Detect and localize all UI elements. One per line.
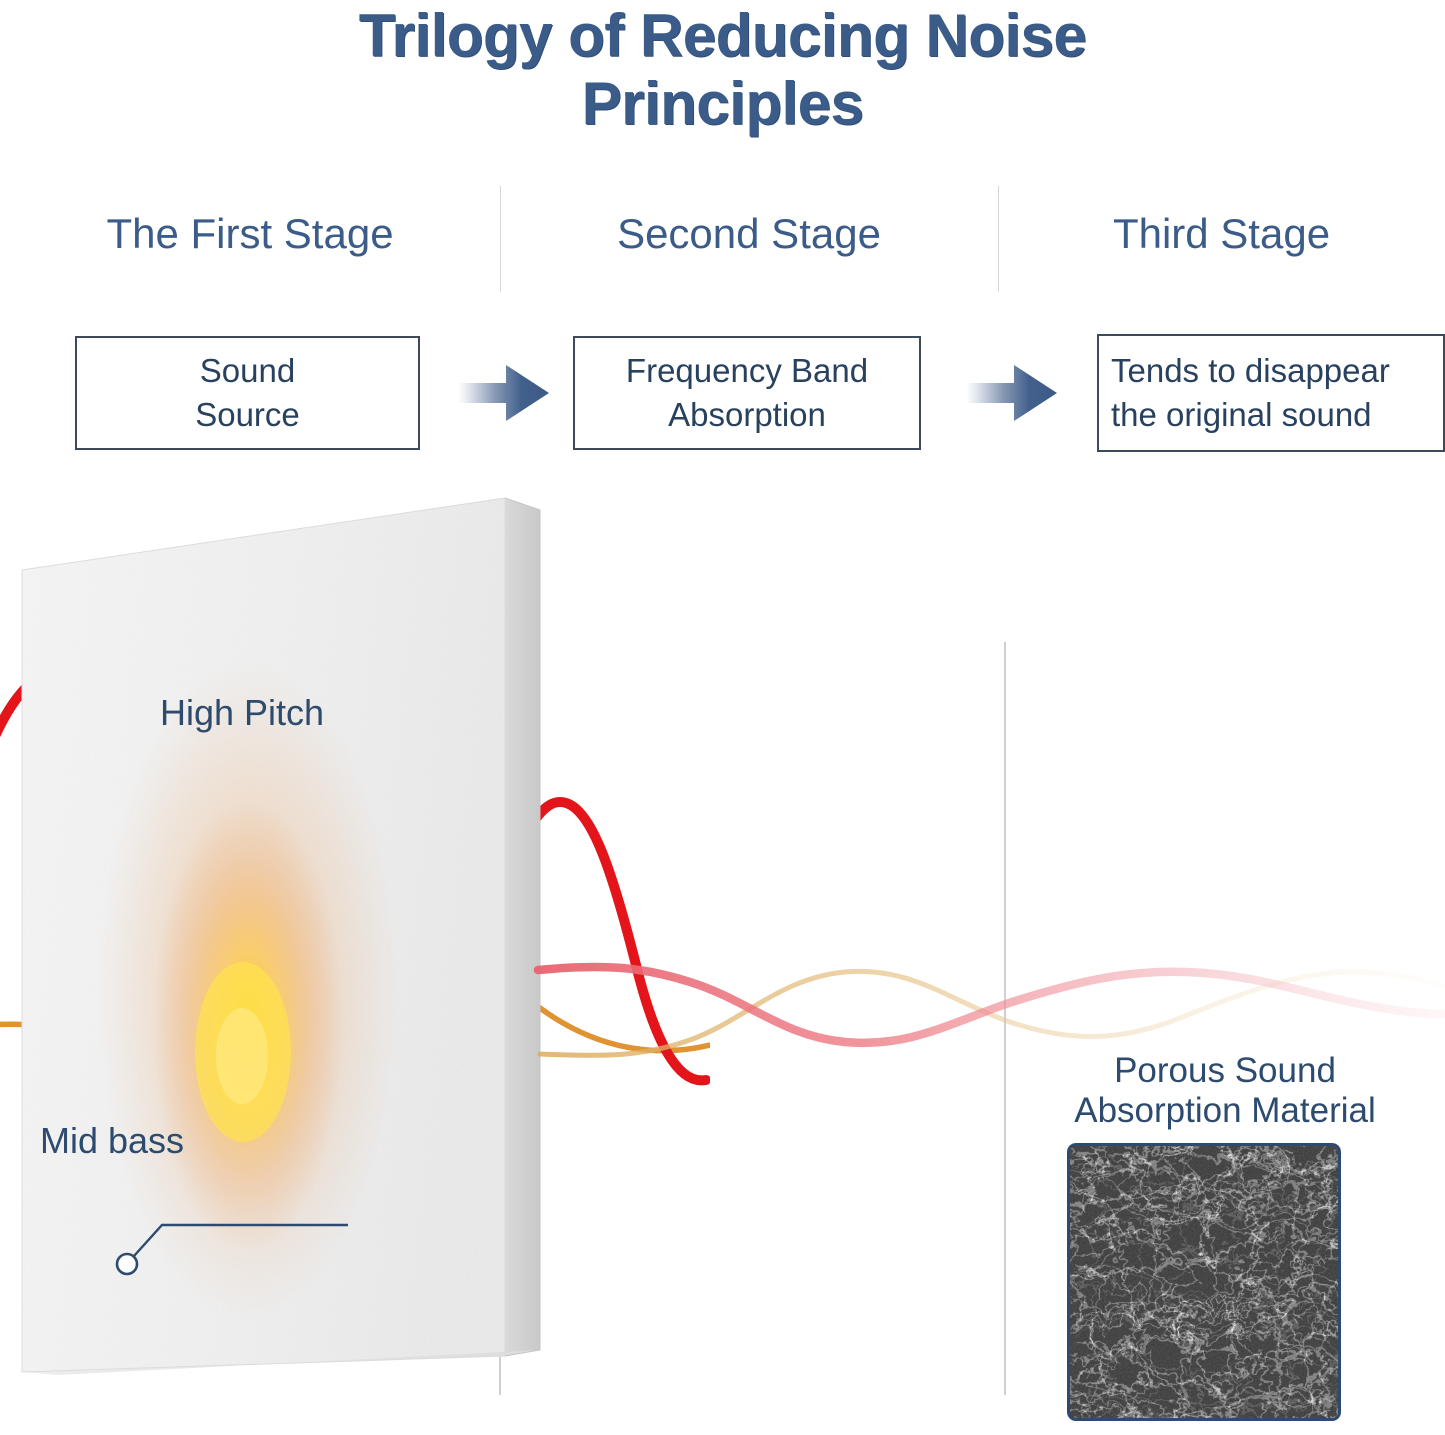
acoustic-absorption-panel (22, 498, 540, 1375)
stage-header-first: The First Stage (0, 208, 500, 260)
porous-fiber-material-swatch (1067, 1143, 1341, 1421)
label-porous-material-line2: Absorption Material (1045, 1091, 1405, 1131)
page-title-line1: Trilogy of Reducing Noise (0, 2, 1445, 70)
page-title-line2: Principles (0, 70, 1445, 138)
flow-box-tends-to-disappear: Tends to disappear the original sound (1097, 334, 1445, 452)
flow-box-1-line1: Sound (195, 349, 300, 393)
flow-box-frequency-band-absorption: Frequency Band Absorption (573, 336, 921, 450)
flow-box-3-line2: the original sound (1111, 393, 1390, 437)
flow-box-sound-source: Sound Source (75, 336, 420, 450)
flow-box-3-line1: Tends to disappear (1111, 349, 1390, 393)
stage-header-second: Second Stage (500, 208, 998, 260)
page-title: Trilogy of Reducing Noise Principles (0, 0, 1445, 138)
label-porous-material-line1: Porous Sound (1045, 1051, 1405, 1091)
label-porous-material: Porous Sound Absorption Material (1045, 1051, 1405, 1131)
stage-header-third: Third Stage (998, 208, 1445, 260)
label-mid-bass: Mid bass (40, 1120, 184, 1162)
arrow-right-icon-1 (458, 362, 550, 429)
flow-box-2-line2: Absorption (626, 393, 868, 437)
flow-box-2-line1: Frequency Band (626, 349, 868, 393)
panel-guide-lines (500, 642, 1005, 1395)
infographic-root: Trilogy of Reducing Noise Principles The… (0, 0, 1445, 1430)
arrow-right-icon-2 (966, 362, 1058, 429)
label-high-pitch: High Pitch (160, 692, 324, 734)
attenuated-waves (538, 967, 1445, 1055)
flow-box-1-line2: Source (195, 393, 300, 437)
